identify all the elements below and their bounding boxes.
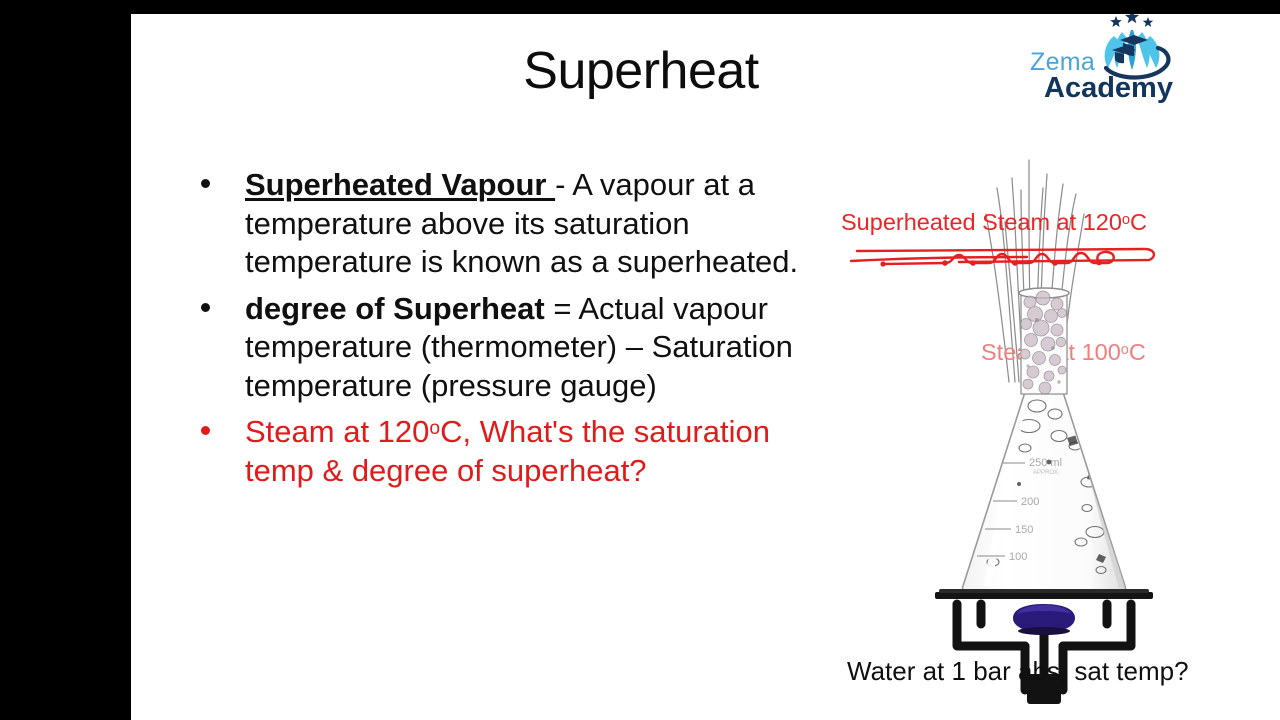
presentation-slide: Superheat: [131, 14, 1280, 720]
flask-and-burner-illustration: 250 ml 200 150 100 APPROX.: [929, 286, 1159, 706]
bullet-2-term: degree of Superheat: [245, 291, 545, 326]
degree-symbol: o: [1122, 212, 1130, 228]
page-title: Superheat: [131, 42, 1151, 100]
letterbox-top: [0, 0, 1280, 14]
annotation-superheated-text-pre: Superheated Steam at 120: [841, 209, 1122, 235]
bullet-list: Superheated Vapour - A vapour at a tempe…: [191, 166, 811, 498]
svg-text:100: 100: [1009, 551, 1027, 563]
degree-symbol: o: [429, 418, 440, 439]
svg-text:APPROX.: APPROX.: [1033, 470, 1060, 476]
bullet-dot-icon: [201, 179, 210, 188]
experiment-figure: Superheated Steam at 120oC: [821, 104, 1251, 704]
list-item: degree of Superheat = Actual vapour temp…: [191, 290, 811, 406]
bullet-1-term: Superheated Vapour: [245, 167, 555, 202]
svg-text:200: 200: [1021, 496, 1039, 508]
hand-drawn-squiggle-underline: [849, 237, 1169, 279]
letterbox-left: [0, 0, 131, 720]
svg-text:250 ml: 250 ml: [1029, 457, 1062, 469]
brand-logo: Zema Academy: [1028, 18, 1208, 118]
figure-caption: Water at 1 bar abs, sat temp?: [847, 656, 1189, 686]
annotation-superheated-steam: Superheated Steam at 120oC: [841, 209, 1147, 235]
video-frame: Superheat: [0, 0, 1280, 720]
bullet-dot-icon: [201, 303, 210, 312]
svg-text:150: 150: [1015, 524, 1033, 536]
bullet-dot-icon: [201, 426, 210, 435]
list-item: Superheated Vapour - A vapour at a tempe…: [191, 166, 811, 282]
annotation-superheated-text-post: C: [1130, 209, 1147, 235]
bullet-3-text-pre: Steam at 120: [245, 414, 429, 449]
logo-text-secondary: Academy: [1044, 74, 1173, 103]
list-item: Steam at 120oC, What's the saturation te…: [191, 413, 811, 490]
